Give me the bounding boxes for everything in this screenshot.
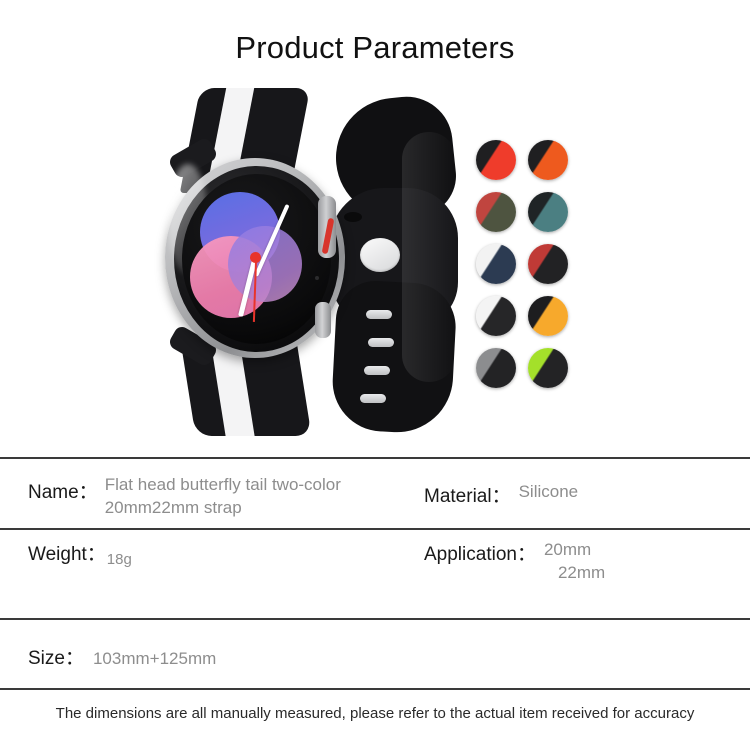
color-swatch-green-black[interactable]	[528, 348, 568, 388]
color-swatch-gray-black[interactable]	[476, 348, 516, 388]
spec-value-size: 103mm+125mm	[93, 648, 216, 671]
color-swatch-black-red[interactable]	[476, 140, 516, 180]
color-swatch-white-black[interactable]	[476, 296, 516, 336]
spec-label-size: Size：	[28, 643, 84, 670]
color-swatch-black-teal[interactable]	[528, 192, 568, 232]
watch-screen	[182, 174, 331, 344]
hand-center-pin	[250, 252, 261, 263]
color-swatch-black-amber[interactable]	[528, 296, 568, 336]
spec-value-weight: 18g	[107, 550, 132, 570]
page-title: Product Parameters	[0, 30, 750, 66]
spec-value-material: Silicone	[519, 481, 579, 504]
footer-disclaimer: The dimensions are all manually measured…	[0, 705, 750, 722]
spec-value-application-line1: 20mm	[544, 539, 605, 562]
swatch-row	[476, 140, 568, 180]
color-swatch-grid	[476, 140, 568, 400]
spec-label-weight: Weight：	[28, 539, 106, 566]
spec-row-material: Material： Silicone	[424, 481, 578, 508]
microphone-dot	[315, 276, 319, 280]
swatch-row	[476, 348, 568, 388]
product-parameters-page: Product Parameters	[0, 0, 750, 750]
spec-label-name: Name：	[28, 474, 98, 504]
swatch-row	[476, 244, 568, 284]
adjustment-slot	[366, 310, 392, 319]
swatch-row	[476, 296, 568, 336]
adjustment-slot	[368, 338, 394, 347]
watch-side-button	[315, 302, 331, 338]
color-swatch-black-orange[interactable]	[528, 140, 568, 180]
spec-value-application: 20mm 22mm	[544, 539, 605, 585]
strap-vent-hole	[344, 212, 362, 222]
table-rule	[0, 528, 750, 530]
watch-face-circle-purple	[228, 226, 302, 302]
spec-label-material: Material：	[424, 481, 511, 508]
buckle-release-button	[360, 238, 400, 272]
spec-row-name: Name： Flat head butterfly tail two-color…	[28, 474, 375, 520]
product-image	[150, 88, 470, 433]
color-swatch-white-navy[interactable]	[476, 244, 516, 284]
table-rule	[0, 618, 750, 620]
spec-row-size: Size： 103mm+125mm	[28, 643, 216, 671]
table-rule	[0, 688, 750, 690]
swatch-row	[476, 192, 568, 232]
adjustment-slot	[360, 394, 386, 403]
spec-row-application: Application： 20mm 22mm	[424, 539, 605, 585]
strap-butterfly-tail	[328, 92, 460, 432]
table-rule	[0, 457, 750, 459]
spec-row-weight: Weight： 18g	[28, 539, 132, 566]
color-swatch-red-black[interactable]	[528, 244, 568, 284]
spec-value-application-line2: 22mm	[544, 562, 605, 585]
tail-highlight	[402, 132, 456, 382]
color-swatch-red-olive[interactable]	[476, 192, 516, 232]
adjustment-slot	[364, 366, 390, 375]
spec-value-name: Flat head butterfly tail two-color 20mm2…	[105, 474, 375, 520]
spec-label-application: Application：	[424, 539, 536, 566]
